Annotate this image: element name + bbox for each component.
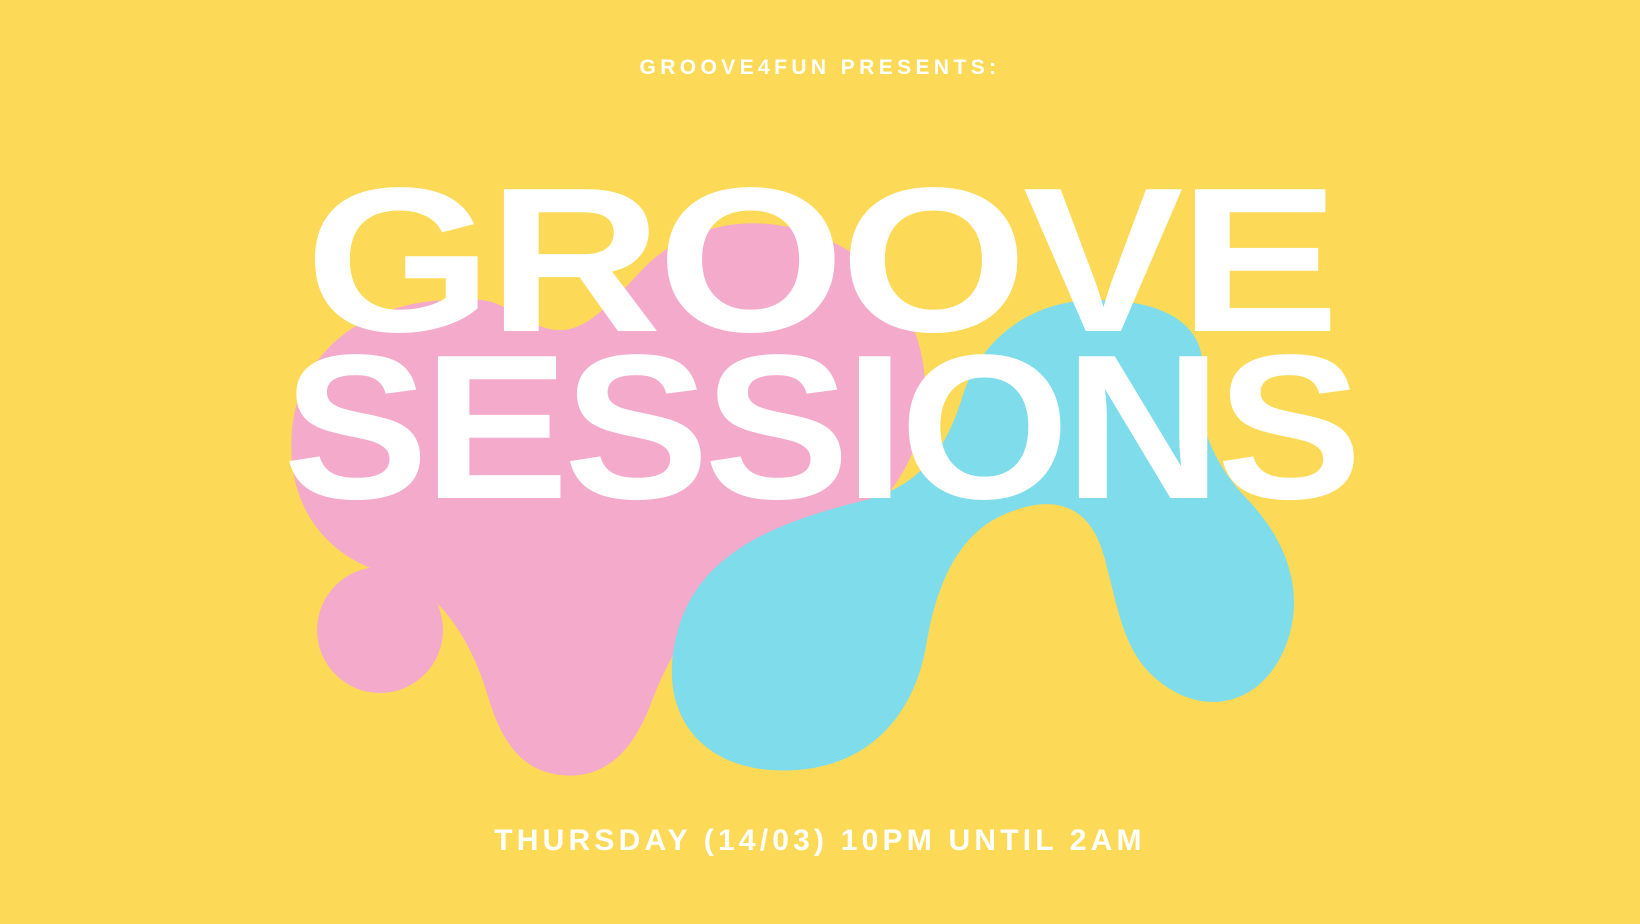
event-datetime-footer: THURSDAY (14/03) 10PM UNTIL 2AM [0,824,1640,858]
page-title: GROOVE SESSIONS [0,170,1640,519]
pink-circle-dot [317,567,443,693]
title-line-sessions: SESSIONS [0,337,1640,518]
presents-kicker: GROOVE4FUN PRESENTS: [0,56,1640,80]
poster-canvas: GROOVE4FUN PRESENTS: GROOVE SESSIONS THU… [0,0,1640,924]
